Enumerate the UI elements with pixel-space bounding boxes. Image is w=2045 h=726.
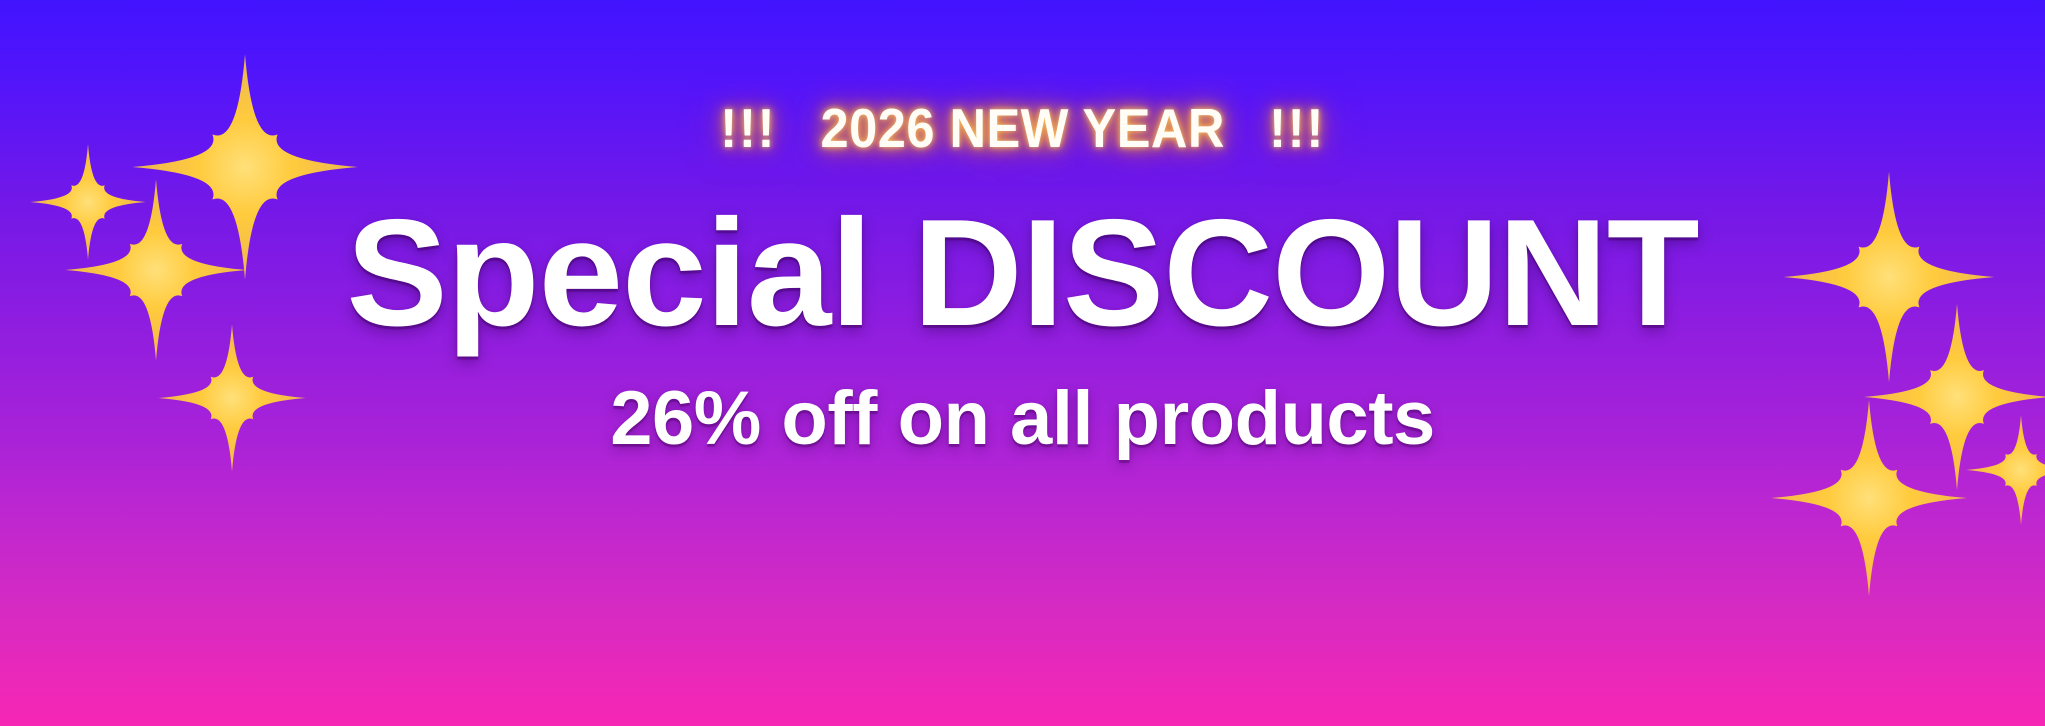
- promotional-banner: !!!2026 NEW YEAR!!! Special DISCOUNT 26%…: [0, 0, 2045, 726]
- banner-subheadline: 26% off on all products: [610, 379, 1435, 459]
- exclamation-right: !!!: [1269, 96, 1325, 160]
- eyebrow-title: 2026 NEW YEAR: [820, 96, 1224, 160]
- exclamation-left: !!!: [720, 96, 776, 160]
- banner-content: !!!2026 NEW YEAR!!! Special DISCOUNT 26%…: [0, 0, 2045, 726]
- banner-headline: Special DISCOUNT: [346, 196, 1698, 351]
- banner-eyebrow: !!!2026 NEW YEAR!!!: [720, 96, 1325, 160]
